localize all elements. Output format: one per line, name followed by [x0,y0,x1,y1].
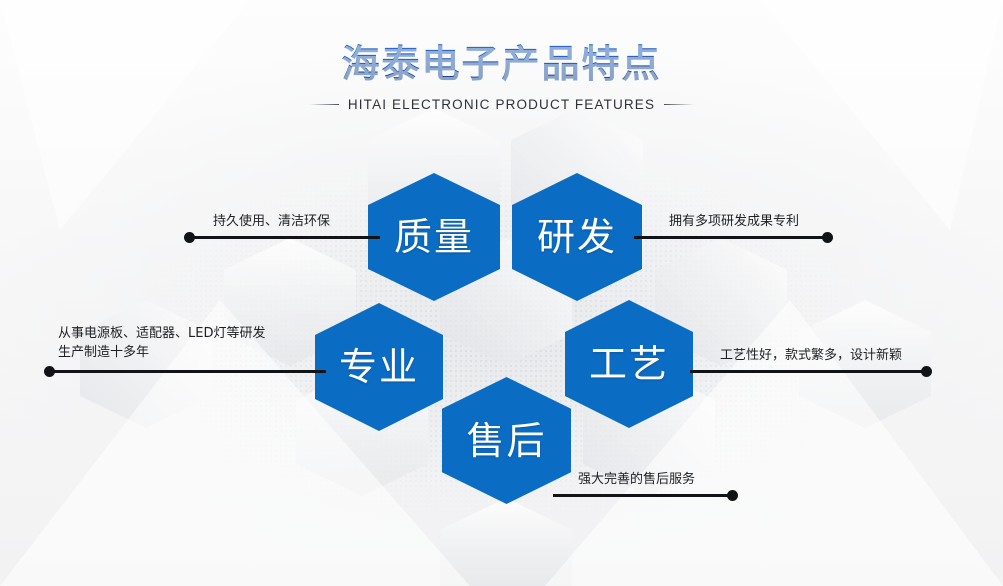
caption-after-sales: 强大完善的售后服务 [578,470,695,489]
feature-diagram-canvas: 海泰电子产品特点 HITAI ELECTRONIC PRODUCT FEATUR… [0,0,1003,586]
hexagon-research-development[interactable]: 研发 [512,173,642,301]
connector-dot-research-development [822,232,833,243]
hexagon-research-development-label: 研发 [537,218,617,256]
hexagon-craftsmanship-label: 工艺 [589,345,669,383]
connector-dot-craftsmanship [921,366,932,377]
connector-line-quality [194,236,380,239]
connector-line-craftsmanship [690,370,927,373]
hexagon-after-sales[interactable]: 售后 [442,377,571,504]
hexagon-after-sales-label: 售后 [466,422,546,460]
caption-craftsmanship: 工艺性好，款式繁多，设计新颖 [720,346,902,365]
connector-line-research-development [634,236,828,239]
hexagon-professional[interactable]: 专业 [315,303,443,431]
rule-left-decoration [309,104,339,105]
hexagon-quality-label: 质量 [394,218,474,256]
hexagon-professional-label: 专业 [339,348,419,386]
caption-research-development: 拥有多项研发成果专利 [669,212,799,231]
caption-professional: 从事电源板、适配器、LED灯等研发 生产制造十多年 [58,324,265,362]
connector-dot-quality [184,232,195,243]
page-subtitle: HITAI ELECTRONIC PRODUCT FEATURES [348,97,655,112]
subtitle-row: HITAI ELECTRONIC PRODUCT FEATURES [0,97,1003,112]
hexagon-quality[interactable]: 质量 [368,173,500,301]
caption-quality: 持久使用、清洁环保 [213,212,330,231]
rule-right-decoration [664,104,694,105]
page-header: 海泰电子产品特点 HITAI ELECTRONIC PRODUCT FEATUR… [0,42,1003,112]
connector-line-after-sales [553,494,733,497]
connector-dot-professional [44,366,55,377]
page-title: 海泰电子产品特点 [0,42,1003,86]
hexagon-craftsmanship[interactable]: 工艺 [565,300,693,428]
connector-line-professional [54,370,326,373]
connector-dot-after-sales [727,490,738,501]
